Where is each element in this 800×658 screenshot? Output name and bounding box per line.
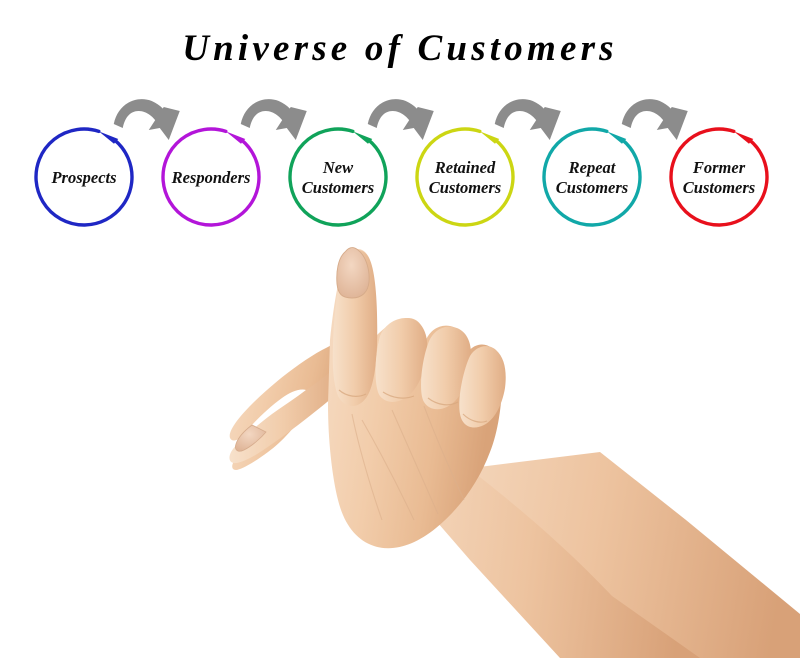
flow-node-label: Customers xyxy=(683,178,755,197)
flow-node-label: Customers xyxy=(429,178,501,197)
flow-node-label: Customers xyxy=(556,178,628,197)
flow-node-label: New xyxy=(322,158,354,177)
flow-node-label: Responders xyxy=(171,168,251,187)
diagram-canvas: Universe of Customers ProspectsResponder… xyxy=(0,0,800,658)
flow-node-label: Former xyxy=(692,158,746,177)
diagram-root: Universe of Customers ProspectsResponder… xyxy=(0,0,800,658)
flow-node-label: Prospects xyxy=(50,168,116,187)
flow-node-label: Retained xyxy=(434,158,496,177)
page-title: Universe of Customers xyxy=(182,28,618,69)
flow-node-label: Repeat xyxy=(568,158,616,177)
flow-node-label: Customers xyxy=(302,178,374,197)
